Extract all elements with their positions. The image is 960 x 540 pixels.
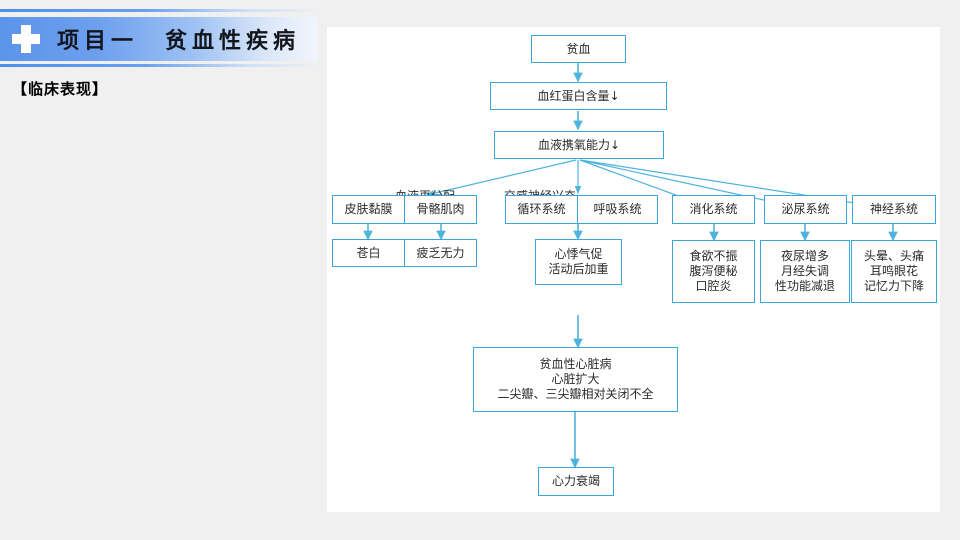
node-fatigue: 疲乏无力 (404, 239, 477, 267)
node-hemoglobin: 血红蛋白含量↓ (490, 82, 667, 110)
node-circulatory-system: 循环系统 (505, 195, 578, 224)
node-oxygen-capacity: 血液携氧能力↓ (494, 131, 664, 159)
node-anemic-heart-disease: 贫血性心脏病 心脏扩大 二尖瓣、三尖瓣相对关闭不全 (473, 347, 678, 412)
node-nervous-system: 神经系统 (852, 195, 936, 224)
header-rule-top (0, 9, 318, 12)
header-rule-bottom (0, 64, 318, 67)
node-skin-mucosa: 皮肤黏膜 (332, 195, 405, 224)
slide-header: 项目一 贫血性疾病 【临床表现】 (0, 0, 318, 110)
node-nervous-signs: 头晕、头痛 耳鸣眼花 记忆力下降 (851, 240, 937, 303)
title-banner: 项目一 贫血性疾病 (0, 17, 318, 61)
node-digestive-system: 消化系统 (672, 195, 755, 224)
section-label: 【临床表现】 (12, 78, 108, 99)
node-digestive-signs: 食欲不振 腹泻便秘 口腔炎 (672, 240, 755, 303)
node-urinary-signs: 夜尿增多 月经失调 性功能减退 (760, 240, 850, 303)
node-respiratory-system: 呼吸系统 (577, 195, 658, 224)
page-title: 项目一 贫血性疾病 (57, 23, 300, 55)
node-palpitation: 心悸气促 活动后加重 (535, 239, 622, 285)
node-pallor: 苍白 (332, 239, 405, 267)
node-heart-failure: 心力衰竭 (538, 467, 614, 496)
medical-cross-icon (11, 24, 41, 54)
node-anemia: 贫血 (531, 35, 626, 63)
flowchart-panel: 贫血 血红蛋白含量↓ 血液携氧能力↓ 血液再分配 交感神经兴奋 皮肤黏膜 骨骼肌… (327, 27, 940, 512)
node-skeletal-muscle: 骨骼肌肉 (404, 195, 477, 224)
node-urinary-system: 泌尿系统 (764, 195, 847, 224)
